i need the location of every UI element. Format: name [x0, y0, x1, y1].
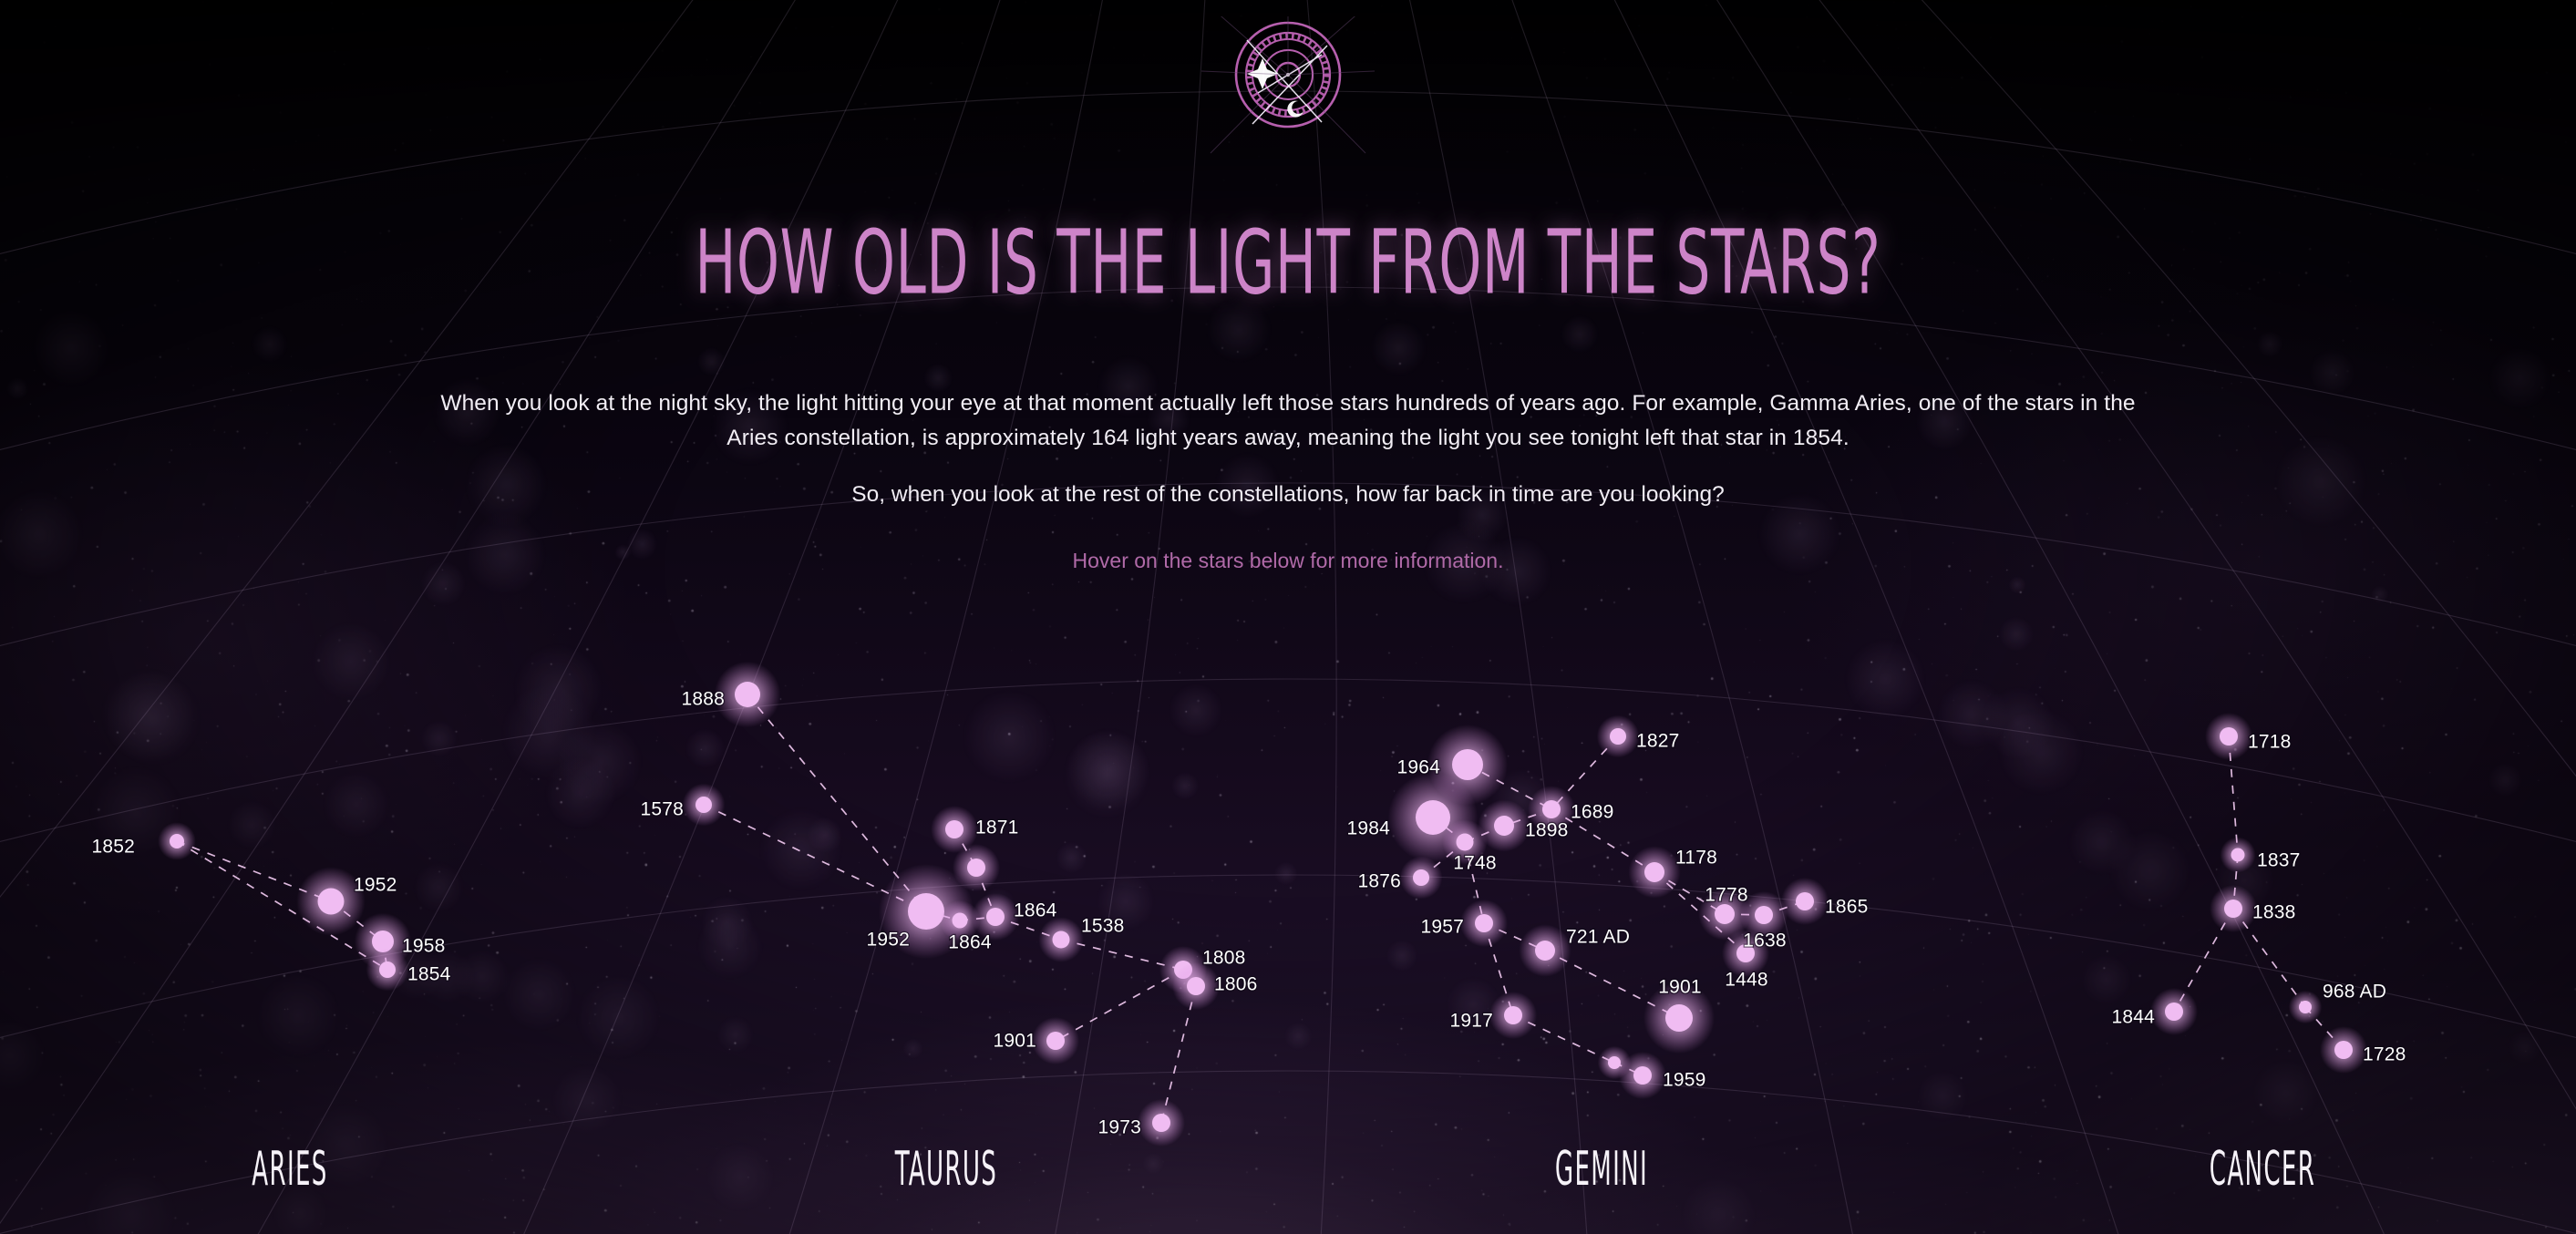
grid-line: [1719, 0, 2576, 1234]
star-year-label: 1178: [1675, 848, 1717, 869]
star-hover-target[interactable]: [2325, 1032, 2362, 1068]
grid-line: [0, 1071, 2576, 1234]
star-hover-target[interactable]: [2215, 890, 2251, 927]
star-year-label: 1871: [975, 818, 1019, 838]
star-year-label: 1898: [1525, 820, 1569, 841]
star-year-label: 1957: [1420, 917, 1464, 938]
star-year-label: 1844: [2111, 1007, 2155, 1028]
star-year-label: 1578: [640, 799, 684, 820]
star-year-label: 1538: [1081, 916, 1125, 937]
star-hover-target[interactable]: [1495, 997, 1531, 1033]
star-year-label: 1448: [1725, 970, 1768, 991]
star-year-label: 968 AD: [2323, 982, 2386, 1003]
star-hover-target[interactable]: [1484, 806, 1524, 846]
constellation-name-cancer: CANCER: [2210, 1141, 2315, 1196]
star-year-label: 721 AD: [1566, 927, 1630, 948]
celestial-grid: [0, 0, 2576, 1234]
star-hover-target[interactable]: [1634, 852, 1674, 892]
constellation-name-aries: ARIES: [252, 1141, 327, 1196]
star-hover-target[interactable]: [1525, 931, 1565, 971]
star-hover-target[interactable]: [1746, 897, 1782, 933]
grid-line: [1550, 0, 2160, 1234]
star-hover-target[interactable]: [1787, 883, 1823, 920]
star-hover-target[interactable]: [1143, 1105, 1180, 1141]
star-year-label: 1958: [402, 936, 446, 957]
star-hover-target[interactable]: [722, 669, 773, 720]
star-year-label: 1917: [1449, 1011, 1493, 1032]
grid-line: [0, 287, 2576, 478]
star-hover-target[interactable]: [371, 953, 404, 986]
grid-line: [1804, 0, 2576, 1234]
star-hover-target[interactable]: [958, 849, 994, 886]
star-year-label: 1827: [1636, 731, 1680, 752]
star-hover-target[interactable]: [687, 788, 720, 821]
star-hover-target[interactable]: [1178, 968, 1214, 1004]
star-year-label: 1808: [1202, 948, 1246, 969]
star-map-page: HOW OLD IS THE LIGHT FROM THE STARS? Whe…: [0, 0, 2576, 1234]
star-year-label: 1837: [2257, 850, 2301, 871]
star-year-label: 1952: [354, 875, 397, 896]
star-year-labels: 1852195219581854188815781871195218641864…: [91, 689, 2406, 1138]
constellation-name-gemini: GEMINI: [1555, 1141, 1648, 1196]
star-year-label: 1864: [948, 932, 992, 953]
star-hover-target[interactable]: [977, 899, 1014, 935]
star-year-label: 1888: [681, 689, 725, 710]
grid-line: [182, 0, 956, 1234]
star-hover-target[interactable]: [1405, 861, 1437, 894]
star-year-label: 1689: [1571, 802, 1614, 823]
star-hover-target[interactable]: [1602, 720, 1634, 753]
star-year-label: 1973: [1097, 1117, 1141, 1138]
star-year-label: 1838: [2252, 902, 2296, 923]
star-year-label: 1718: [2248, 732, 2292, 753]
grid-line: [1380, 0, 1595, 1234]
star-year-label: 1778: [1705, 885, 1748, 906]
star-hover-target[interactable]: [1652, 991, 1706, 1045]
constellation-name-taurus: TAURUS: [894, 1141, 997, 1196]
star-year-label: 1901: [1658, 977, 1702, 998]
star-hover-target[interactable]: [2291, 992, 2320, 1022]
star-year-label: 1748: [1453, 853, 1497, 874]
grid-line: [1295, 0, 1336, 1234]
star-hover-target[interactable]: [936, 811, 973, 848]
star-hover-target[interactable]: [1624, 1057, 1661, 1094]
star-year-label: 1865: [1825, 897, 1869, 918]
grid-line: [0, 483, 2576, 674]
star-hover-target[interactable]: [1466, 905, 1502, 941]
constellation-links: [177, 694, 2344, 1123]
star-year-label: 1959: [1663, 1070, 1706, 1091]
star-hover-target[interactable]: [1037, 1023, 1074, 1059]
star-year-label: 1984: [1346, 818, 1390, 839]
star-hover-target[interactable]: [2223, 840, 2252, 869]
constellation-names: ARIESTAURUSGEMINICANCER: [252, 1141, 2315, 1196]
star-hover-target[interactable]: [2210, 718, 2247, 755]
grid-line: [0, 679, 2576, 870]
star-year-label: 1964: [1396, 757, 1440, 778]
star-hover-target[interactable]: [162, 827, 191, 856]
star-year-label: 1728: [2363, 1044, 2406, 1065]
star-year-label: 1806: [1214, 974, 1258, 995]
grid-line: [0, 0, 871, 1234]
constellation-map: 1852195219581854188815781871195218641864…: [0, 0, 2576, 1234]
star-hover-target[interactable]: [2156, 993, 2192, 1030]
star-year-label: 1901: [993, 1031, 1036, 1052]
grid-line: [0, 91, 2576, 283]
star-year-label: 1876: [1357, 871, 1401, 892]
star-year-label: 1852: [91, 837, 135, 858]
star-year-label: 1952: [866, 930, 910, 951]
grid-line: [465, 0, 1041, 1234]
star-hover-target[interactable]: [304, 875, 357, 928]
star-year-label: 1638: [1743, 931, 1787, 951]
star-year-label: 1854: [407, 964, 451, 985]
star-year-label: 1864: [1014, 900, 1057, 921]
star-hover-target[interactable]: [1044, 922, 1078, 957]
